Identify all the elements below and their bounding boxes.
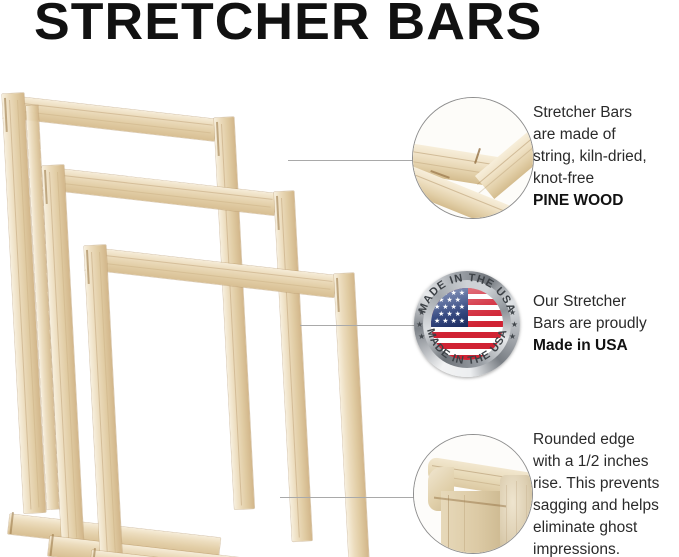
wood-joint-photo: [413, 98, 533, 218]
connector-line-pine-wood: [288, 160, 416, 161]
badge-star-icon: ★: [418, 333, 425, 341]
callout-line: Stretcher Bars: [533, 102, 679, 124]
callout-line: sagging and helps: [533, 495, 679, 517]
rounded-edge-profile-photo: [414, 435, 532, 553]
product-image-stretcher-frames: [0, 80, 340, 557]
callout-line: rise. This prevents: [533, 473, 679, 495]
callout-line: knot-free: [533, 168, 679, 190]
callout-line: eliminate ghost: [533, 517, 679, 539]
badge-star-icon: ★: [416, 321, 423, 329]
frame-rail-top: [92, 248, 337, 297]
callout-line: are made of: [533, 124, 679, 146]
frame-stile-right: [274, 191, 312, 542]
badge-star-icon: ★: [418, 309, 425, 317]
callout-line-emphasis: Made in USA: [533, 335, 679, 357]
connector-line-made-in-usa: [300, 325, 415, 326]
connector-line-rounded-edge: [280, 497, 415, 498]
callout-line-emphasis: PINE WOOD: [533, 190, 679, 212]
frame-stile-right: [214, 117, 254, 510]
callout-line: string, kiln-dried,: [533, 146, 679, 168]
frame-rail-top: [50, 168, 277, 215]
frame-rail-top: [10, 96, 217, 141]
badge-star-icon: ★: [511, 321, 518, 329]
badge-star-icon: ★: [509, 309, 516, 317]
callout-text-pine-wood: Stretcher Bars are made of string, kiln-…: [533, 102, 679, 212]
badge-star-icon: ★: [509, 333, 516, 341]
callout-line: Bars are proudly: [533, 313, 679, 335]
callout-line: with a 1/2 inches: [533, 451, 679, 473]
infographic-page: STRETCHER BARS: [0, 0, 679, 557]
callout-text-made-in-usa: Our Stretcher Bars are proudly Made in U…: [533, 291, 679, 357]
callout-line: Our Stretcher: [533, 291, 679, 313]
american-flag: ★ ★ ★ ★ ★ ★ ★ ★ ★ ★ ★ ★ ★ ★ ★ ★ ★ ★: [431, 288, 503, 360]
callout-line: impressions.: [533, 539, 679, 557]
flag-canton: ★ ★ ★ ★ ★ ★ ★ ★ ★ ★ ★ ★ ★ ★ ★ ★ ★ ★: [431, 288, 468, 327]
page-title: STRETCHER BARS: [34, 0, 662, 48]
made-in-usa-badge: ★ ★ ★ ★ ★ ★ ★ ★ ★ ★ ★: [414, 271, 520, 377]
callout-line: Rounded edge: [533, 429, 679, 451]
callout-text-rounded-edge: Rounded edge with a 1/2 inches rise. Thi…: [533, 429, 679, 557]
callout-image-pine-wood: [412, 97, 534, 219]
callout-image-rounded-edge: [413, 434, 533, 554]
frame-stile-right: [334, 273, 370, 557]
